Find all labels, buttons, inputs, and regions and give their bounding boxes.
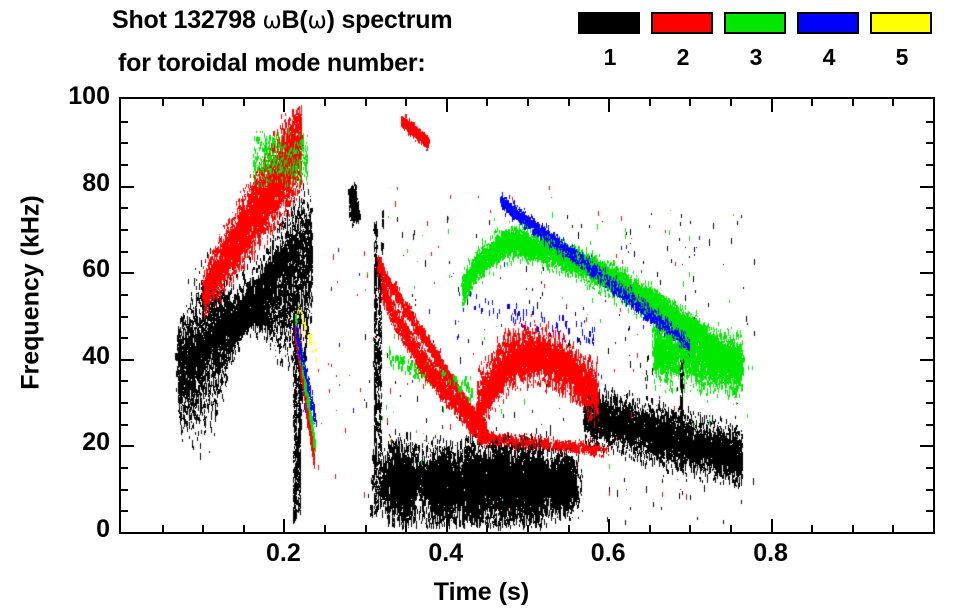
x-tick (324, 525, 326, 532)
title-line-2: for toroidal mode number: (118, 49, 426, 78)
y-tick (920, 186, 933, 188)
x-tick (162, 99, 164, 106)
omega-symbol-2: ω (308, 8, 327, 34)
y-tick (121, 380, 128, 382)
x-tick (405, 99, 407, 106)
x-tick (446, 519, 448, 532)
y-tick (920, 445, 933, 447)
x-tick (649, 525, 651, 532)
x-tick (608, 519, 610, 532)
x-tick (162, 525, 164, 532)
x-tick (649, 99, 651, 106)
y-axis-title: Frequency (kHz) (17, 128, 46, 458)
x-tick (527, 525, 529, 532)
y-tick-label-0: 0 (96, 517, 110, 542)
title-line-1: Shot 132798 ωB(ω) spectrum (112, 6, 452, 35)
x-tick (689, 525, 691, 532)
x-tick (689, 99, 691, 106)
x-tick (568, 99, 570, 106)
x-tick (405, 525, 407, 532)
y-tick (920, 359, 933, 361)
y-tick (121, 186, 134, 188)
y-tick (121, 424, 128, 426)
x-tick (568, 525, 570, 532)
y-tick (121, 445, 134, 447)
y-tick (926, 380, 933, 382)
y-tick (121, 121, 128, 123)
x-tick (892, 99, 894, 106)
x-axis-tick-labels: 0.20.40.60.8 (0, 541, 963, 575)
legend: 12345 (578, 12, 938, 90)
x-tick (324, 99, 326, 106)
legend-entry-3: 3 (724, 12, 788, 69)
legend-swatch-4 (797, 12, 859, 34)
y-tick (926, 337, 933, 339)
x-tick-label-0.4: 0.4 (406, 541, 486, 566)
y-tick (926, 510, 933, 512)
title-b-open: B( (282, 6, 308, 34)
x-tick (365, 525, 367, 532)
legend-swatch-5 (870, 12, 932, 34)
y-tick (926, 316, 933, 318)
y-tick (121, 337, 128, 339)
legend-label-5: 5 (870, 46, 934, 69)
x-tick-label-0.2: 0.2 (243, 541, 323, 566)
x-tick-label-0.8: 0.8 (731, 541, 811, 566)
y-tick (121, 359, 134, 361)
y-tick (926, 251, 933, 253)
x-tick (365, 99, 367, 106)
y-tick (121, 510, 128, 512)
y-tick (926, 424, 933, 426)
legend-entry-1: 1 (578, 12, 642, 69)
x-tick (892, 525, 894, 532)
y-tick (121, 251, 128, 253)
legend-label-2: 2 (651, 46, 715, 69)
legend-entry-5: 5 (870, 12, 934, 69)
y-tick-label-20: 20 (82, 430, 110, 455)
omega-symbol-1: ω (262, 8, 281, 34)
y-tick-label-40: 40 (82, 344, 110, 369)
legend-entry-2: 2 (651, 12, 715, 69)
y-tick (121, 316, 128, 318)
y-tick (926, 164, 933, 166)
x-tick (527, 99, 529, 106)
y-tick (121, 402, 128, 404)
y-tick (926, 467, 933, 469)
y-tick-label-80: 80 (82, 171, 110, 196)
x-tick (852, 525, 854, 532)
x-tick-label-0.6: 0.6 (568, 541, 648, 566)
x-tick (243, 99, 245, 106)
legend-label-1: 1 (578, 46, 642, 69)
y-tick (926, 121, 933, 123)
x-tick (283, 519, 285, 532)
legend-swatch-2 (651, 12, 713, 34)
x-tick (608, 99, 610, 112)
y-tick (926, 229, 933, 231)
y-tick-label-100: 100 (68, 84, 110, 109)
x-tick (730, 99, 732, 106)
x-tick (730, 525, 732, 532)
y-tick (121, 229, 128, 231)
y-tick (121, 142, 128, 144)
y-tick (121, 207, 128, 209)
x-axis-title: Time (s) (0, 578, 963, 607)
legend-swatch-1 (578, 12, 640, 34)
y-tick (121, 467, 128, 469)
y-tick-label-60: 60 (82, 257, 110, 282)
x-tick (202, 525, 204, 532)
y-tick (121, 294, 128, 296)
x-tick (771, 99, 773, 112)
legend-label-3: 3 (724, 46, 788, 69)
y-tick (926, 402, 933, 404)
y-tick (121, 272, 134, 274)
y-tick (920, 272, 933, 274)
x-tick (486, 525, 488, 532)
x-tick (811, 525, 813, 532)
spectrogram-plot (121, 99, 933, 532)
legend-label-4: 4 (797, 46, 861, 69)
title-shot-text: Shot 132798 (112, 6, 262, 34)
x-tick (852, 99, 854, 106)
y-tick (121, 164, 128, 166)
y-tick (926, 207, 933, 209)
x-tick (202, 99, 204, 106)
x-tick (243, 525, 245, 532)
spectrogram-figure: Shot 132798 ωB(ω) spectrum for toroidal … (0, 0, 963, 615)
x-tick (283, 99, 285, 112)
y-tick (121, 489, 128, 491)
legend-swatch-3 (724, 12, 786, 34)
x-tick (771, 519, 773, 532)
y-tick (926, 489, 933, 491)
title-spectrum-text: ) spectrum (327, 6, 453, 34)
x-tick (486, 99, 488, 106)
legend-entry-4: 4 (797, 12, 861, 69)
y-tick (926, 142, 933, 144)
x-tick (446, 99, 448, 112)
plot-frame (119, 97, 935, 534)
x-tick (811, 99, 813, 106)
y-tick (926, 294, 933, 296)
